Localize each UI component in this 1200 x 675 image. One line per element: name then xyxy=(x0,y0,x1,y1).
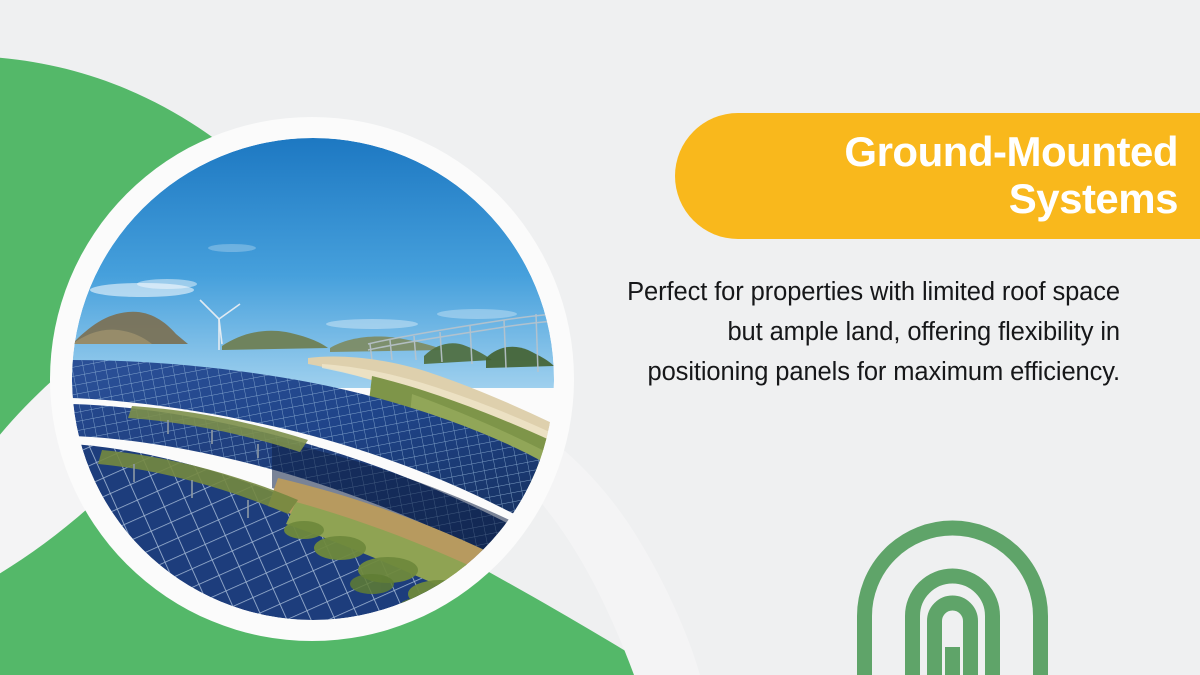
solar-farm-photo xyxy=(72,138,554,620)
page-title: Ground-Mounted Systems xyxy=(844,128,1178,224)
slide-canvas: Ground-Mounted Systems Perfect for prope… xyxy=(0,0,1200,675)
body-paragraph: Perfect for properties with limited roof… xyxy=(600,272,1120,392)
arch-logo xyxy=(849,505,1056,675)
title-banner: Ground-Mounted Systems xyxy=(675,113,1200,239)
